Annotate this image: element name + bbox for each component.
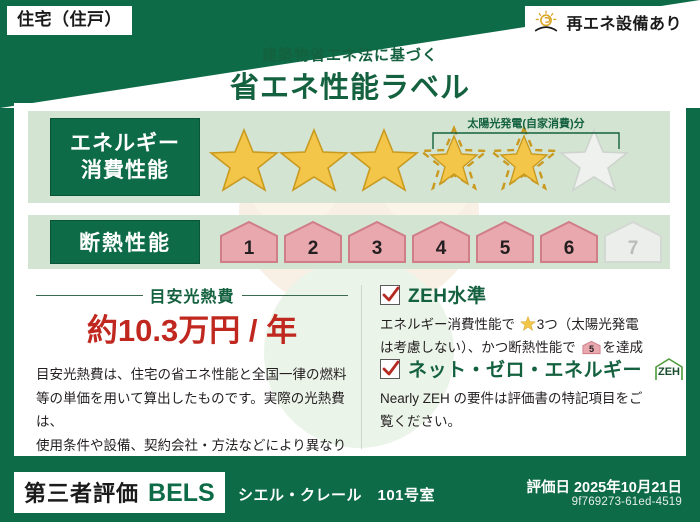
evaluation-id: 9f769273-61ed-4519 [572, 496, 682, 508]
zeh-standard-body-line2-pre: は考慮しない）、かつ断熱性能で [380, 340, 576, 355]
insulation-level-scale: 1 2 3 4 [200, 215, 670, 269]
utility-cost-note-line1: 目安光熱費は、住宅の省エネ性能と全国一律の燃料 [36, 363, 356, 387]
net-zero-checkbox[interactable] [380, 359, 400, 379]
insulation-performance-tag: 断熱性能 [50, 220, 200, 264]
sun-icon [533, 10, 559, 34]
check-icon [382, 286, 400, 304]
inline-house-icon: 5 [582, 340, 601, 355]
utility-cost-value: 約10.3万円 / 年 [36, 305, 348, 350]
net-zero-body: Nearly ZEH の要件は評価書の特記項目をご 覧ください。 [380, 387, 676, 433]
zeh-standard-body-line2-post: を達成 [603, 340, 644, 355]
renewable-equipment-chip: 再エネ設備あり [525, 6, 692, 39]
insulation-level-4: 4 [410, 220, 472, 264]
net-zero-title-row: ネット・ゼロ・エネルギー ZEH Nearly ZEH [380, 355, 676, 382]
zeh-standard-title-row: ZEH水準 [380, 281, 676, 308]
star-icon-2 [278, 122, 350, 192]
energy-tag-line1: エネルギー [51, 130, 199, 157]
utility-cost-note: 目安光熱費は、住宅の省エネ性能と全国一律の燃料 等の単価を用いて算出したものです… [36, 363, 356, 456]
check-icon [382, 360, 400, 378]
zeh-standard-title: ZEH水準 [408, 281, 487, 308]
star-icon-1 [208, 122, 280, 192]
solar-bracket: 太陽光発電(自家消費)分 [431, 117, 621, 147]
zeh-standard-body-pre: エネルギー消費性能で [380, 317, 515, 332]
zeh-logo-icon: ZEH Nearly ZEH [652, 356, 686, 382]
bels-en-label: BELS [148, 479, 215, 508]
evaluation-date: 評価日 2025年10月21日 [526, 476, 682, 497]
energy-performance-row: エネルギー 消費性能 [28, 111, 670, 203]
utility-cost-note-line3: 使用条件や設備、契約会社・方法などにより異なります。 [36, 434, 356, 456]
renewable-chip-label: 再エネ設備あり [566, 10, 682, 34]
label-main-card: エネルギー 消費性能 [14, 103, 686, 456]
star-icon-3 [348, 122, 420, 192]
insulation-performance-row: 断熱性能 1 2 3 [28, 215, 670, 269]
insulation-level-1: 1 [218, 220, 280, 264]
building-name: シエル・クレール 101号室 [238, 484, 435, 505]
insulation-level-6: 6 [538, 220, 600, 264]
net-zero-title: ネット・ゼロ・エネルギー [408, 355, 642, 382]
category-chip: 住宅（住戸） [7, 6, 132, 35]
zeh-standard-checkbox[interactable] [380, 285, 400, 305]
net-zero-body-line2: 覧ください。 [380, 410, 676, 433]
solar-bracket-shape [431, 129, 621, 151]
star-rating: 太陽光発電(自家消費)分 [200, 111, 670, 203]
insulation-level-5-label: 5 [474, 238, 536, 260]
energy-performance-label: 住宅（住戸） 再エネ設備あり 建築物省エネ法に基づく 省エネ性能ラベル [0, 0, 700, 522]
zeh-standard-body: エネルギー消費性能で 3つ（太陽光発電 は考慮しない）、かつ断熱性能で 5 を達… [380, 313, 676, 359]
insulation-level-5: 5 [474, 220, 536, 264]
net-zero-energy-block: ネット・ゼロ・エネルギー ZEH Nearly ZEH Nearly ZEH の… [380, 355, 676, 433]
insulation-level-4-label: 4 [410, 238, 472, 260]
utility-cost-note-line2: 等の単価を用いて算出したものです。実際の光熱費は、 [36, 387, 356, 434]
vertical-divider [361, 285, 362, 449]
label-title: 省エネ性能ラベル [0, 64, 700, 106]
utility-cost-heading-label: 目安光熱費 [150, 283, 235, 307]
insulation-level-1-label: 1 [218, 238, 280, 260]
insulation-level-7-label: 7 [602, 238, 664, 260]
bels-jp-label: 第三者評価 [24, 476, 139, 508]
insulation-level-6-label: 6 [538, 238, 600, 260]
insulation-level-2: 2 [282, 220, 344, 264]
zeh-standard-block: ZEH水準 エネルギー消費性能で 3つ（太陽光発電 は考慮しない）、かつ断熱性能… [380, 281, 676, 359]
insulation-level-3-label: 3 [346, 238, 408, 260]
energy-tag-line2: 消費性能 [51, 157, 199, 184]
insulation-level-7: 7 [602, 220, 664, 264]
energy-performance-tag: エネルギー 消費性能 [50, 118, 200, 196]
insulation-level-2-label: 2 [282, 238, 344, 260]
svg-text:ZEH: ZEH [658, 366, 680, 378]
inline-star-icon [520, 315, 536, 331]
label-subtitle: 建築物省エネ法に基づく [0, 44, 700, 65]
net-zero-body-line1: Nearly ZEH の要件は評価書の特記項目をご [380, 387, 676, 410]
zeh-standard-body-mid: 3つ（太陽光発電 [537, 317, 639, 332]
label-lower-section: 目安光熱費 約10.3万円 / 年 目安光熱費は、住宅の省エネ性能と全国一律の燃… [14, 279, 686, 456]
heading-rule-left [36, 295, 143, 296]
bels-chip: 第三者評価 BELS [14, 472, 225, 513]
svg-text:5: 5 [588, 344, 593, 354]
heading-rule-right [242, 295, 349, 296]
insulation-level-3: 3 [346, 220, 408, 264]
label-footer: 第三者評価 BELS シエル・クレール 101号室 評価日 2025年10月21… [0, 460, 700, 522]
utility-cost-heading: 目安光熱費 [36, 283, 348, 307]
